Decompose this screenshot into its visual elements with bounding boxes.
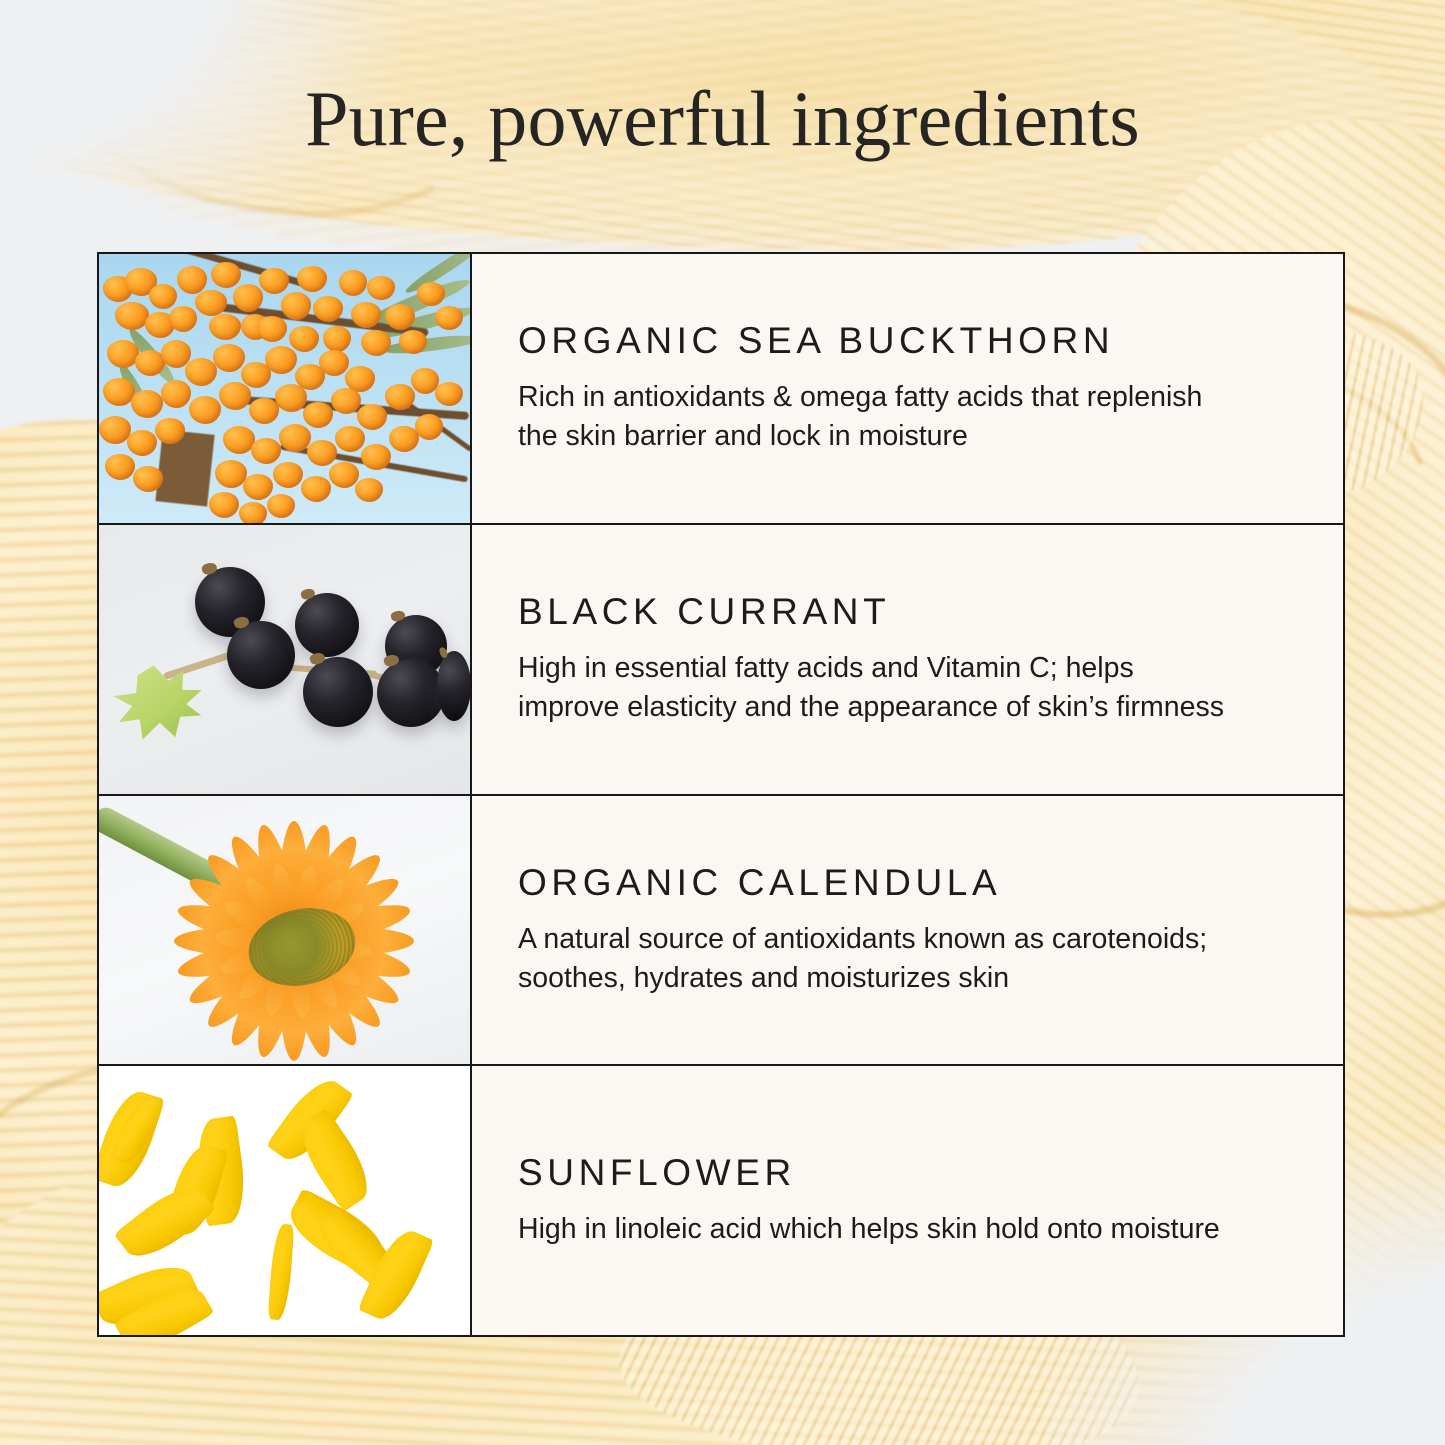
table-row: ORGANIC CALENDULA A natural source of an…	[99, 796, 1343, 1067]
ingredient-name: ORGANIC CALENDULA	[518, 862, 1305, 904]
calendula-photo	[99, 796, 470, 1065]
ingredient-name: ORGANIC SEA BUCKTHORN	[518, 320, 1305, 362]
ingredient-image-calendula	[99, 796, 472, 1065]
ingredients-table: ORGANIC SEA BUCKTHORN Rich in antioxidan…	[97, 252, 1345, 1337]
description-line: High in linoleic acid which helps skin h…	[518, 1213, 1220, 1245]
page-title: Pure, powerful ingredients	[0, 78, 1445, 160]
sunflower-petals-photo	[99, 1066, 470, 1335]
table-row: SUNFLOWER High in linoleic acid which he…	[99, 1066, 1343, 1335]
sea-buckthorn-photo	[99, 254, 470, 523]
description-line: Rich in antioxidants & omega fatty acids…	[518, 381, 1202, 413]
black-currant-photo	[99, 525, 470, 794]
ingredient-description: High in linoleic acid which helps skin h…	[518, 1210, 1305, 1249]
description-line: improve elasticity and the appearance of…	[518, 691, 1224, 723]
ingredient-name: BLACK CURRANT	[518, 591, 1305, 633]
ingredients-infographic: Pure, powerful ingredients	[0, 0, 1445, 1445]
ingredient-image-sea-buckthorn	[99, 254, 472, 523]
flower-head	[151, 826, 421, 1056]
ingredient-text-sunflower: SUNFLOWER High in linoleic acid which he…	[472, 1066, 1343, 1335]
ingredient-image-sunflower	[99, 1066, 472, 1335]
ingredient-text-sea-buckthorn: ORGANIC SEA BUCKTHORN Rich in antioxidan…	[472, 254, 1343, 523]
description-line: soothes, hydrates and moisturizes skin	[518, 962, 1009, 994]
ingredient-description: High in essential fatty acids and Vitami…	[518, 649, 1305, 728]
description-line: A natural source of antioxidants known a…	[518, 923, 1207, 955]
table-row: BLACK CURRANT High in essential fatty ac…	[99, 525, 1343, 796]
description-line: High in essential fatty acids and Vitami…	[518, 652, 1134, 684]
description-line: the skin barrier and lock in moisture	[518, 420, 968, 452]
ingredient-text-calendula: ORGANIC CALENDULA A natural source of an…	[472, 796, 1343, 1065]
ingredient-image-black-currant	[99, 525, 472, 794]
table-row: ORGANIC SEA BUCKTHORN Rich in antioxidan…	[99, 254, 1343, 525]
ingredient-text-black-currant: BLACK CURRANT High in essential fatty ac…	[472, 525, 1343, 794]
ingredient-name: SUNFLOWER	[518, 1152, 1305, 1194]
ingredient-description: A natural source of antioxidants known a…	[518, 920, 1305, 999]
ingredient-description: Rich in antioxidants & omega fatty acids…	[518, 378, 1305, 457]
